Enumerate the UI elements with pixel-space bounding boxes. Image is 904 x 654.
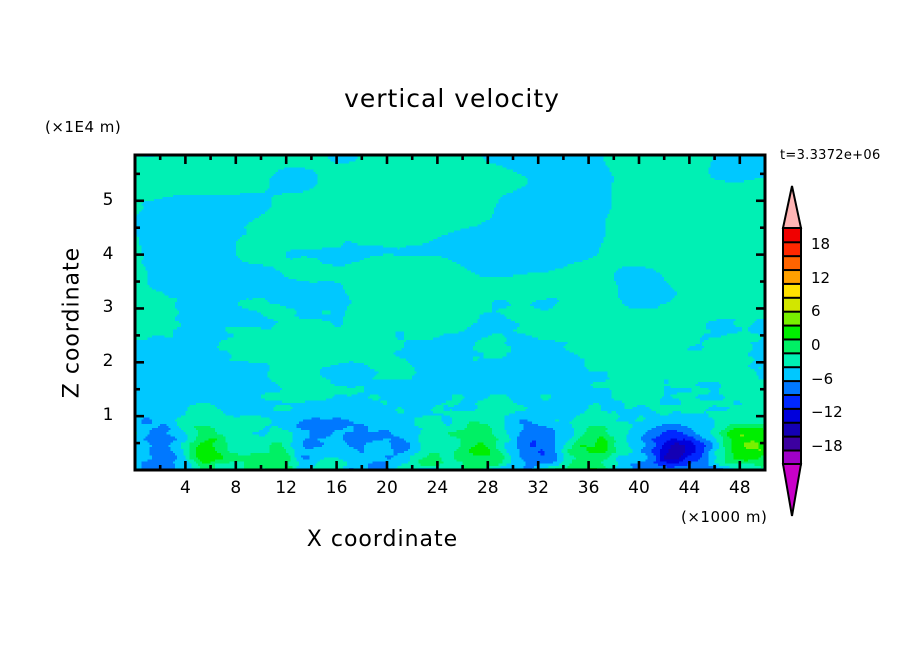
x-tick-label: 24 — [415, 478, 459, 498]
x-tick-label: 12 — [264, 478, 308, 498]
y-tick-label: 1 — [93, 405, 123, 425]
y-tick-label: 3 — [93, 297, 123, 317]
x-tick-label: 16 — [315, 478, 359, 498]
colorbar-tick-label: 18 — [811, 235, 830, 253]
x-tick-label: 4 — [163, 478, 207, 498]
x-tick-label: 8 — [214, 478, 258, 498]
x-tick-label: 36 — [567, 478, 611, 498]
colorbar-tick-label: 6 — [811, 302, 821, 320]
colorbar-tick-label: 12 — [811, 269, 830, 287]
y-tick-label: 4 — [93, 244, 123, 264]
colorbar-tick-label: −6 — [811, 370, 833, 388]
y-tick-label: 2 — [93, 351, 123, 371]
colorbar-tick-label: 0 — [811, 336, 821, 354]
x-tick-label: 32 — [516, 478, 560, 498]
y-tick-label: 5 — [93, 190, 123, 210]
x-tick-label: 48 — [718, 478, 762, 498]
x-tick-label: 20 — [365, 478, 409, 498]
colorbar-tick-label: −12 — [811, 403, 843, 421]
x-tick-label: 28 — [466, 478, 510, 498]
contour-plot — [0, 0, 904, 654]
x-tick-label: 44 — [667, 478, 711, 498]
x-tick-label: 40 — [617, 478, 661, 498]
colorbar-tick-label: −18 — [811, 437, 843, 455]
